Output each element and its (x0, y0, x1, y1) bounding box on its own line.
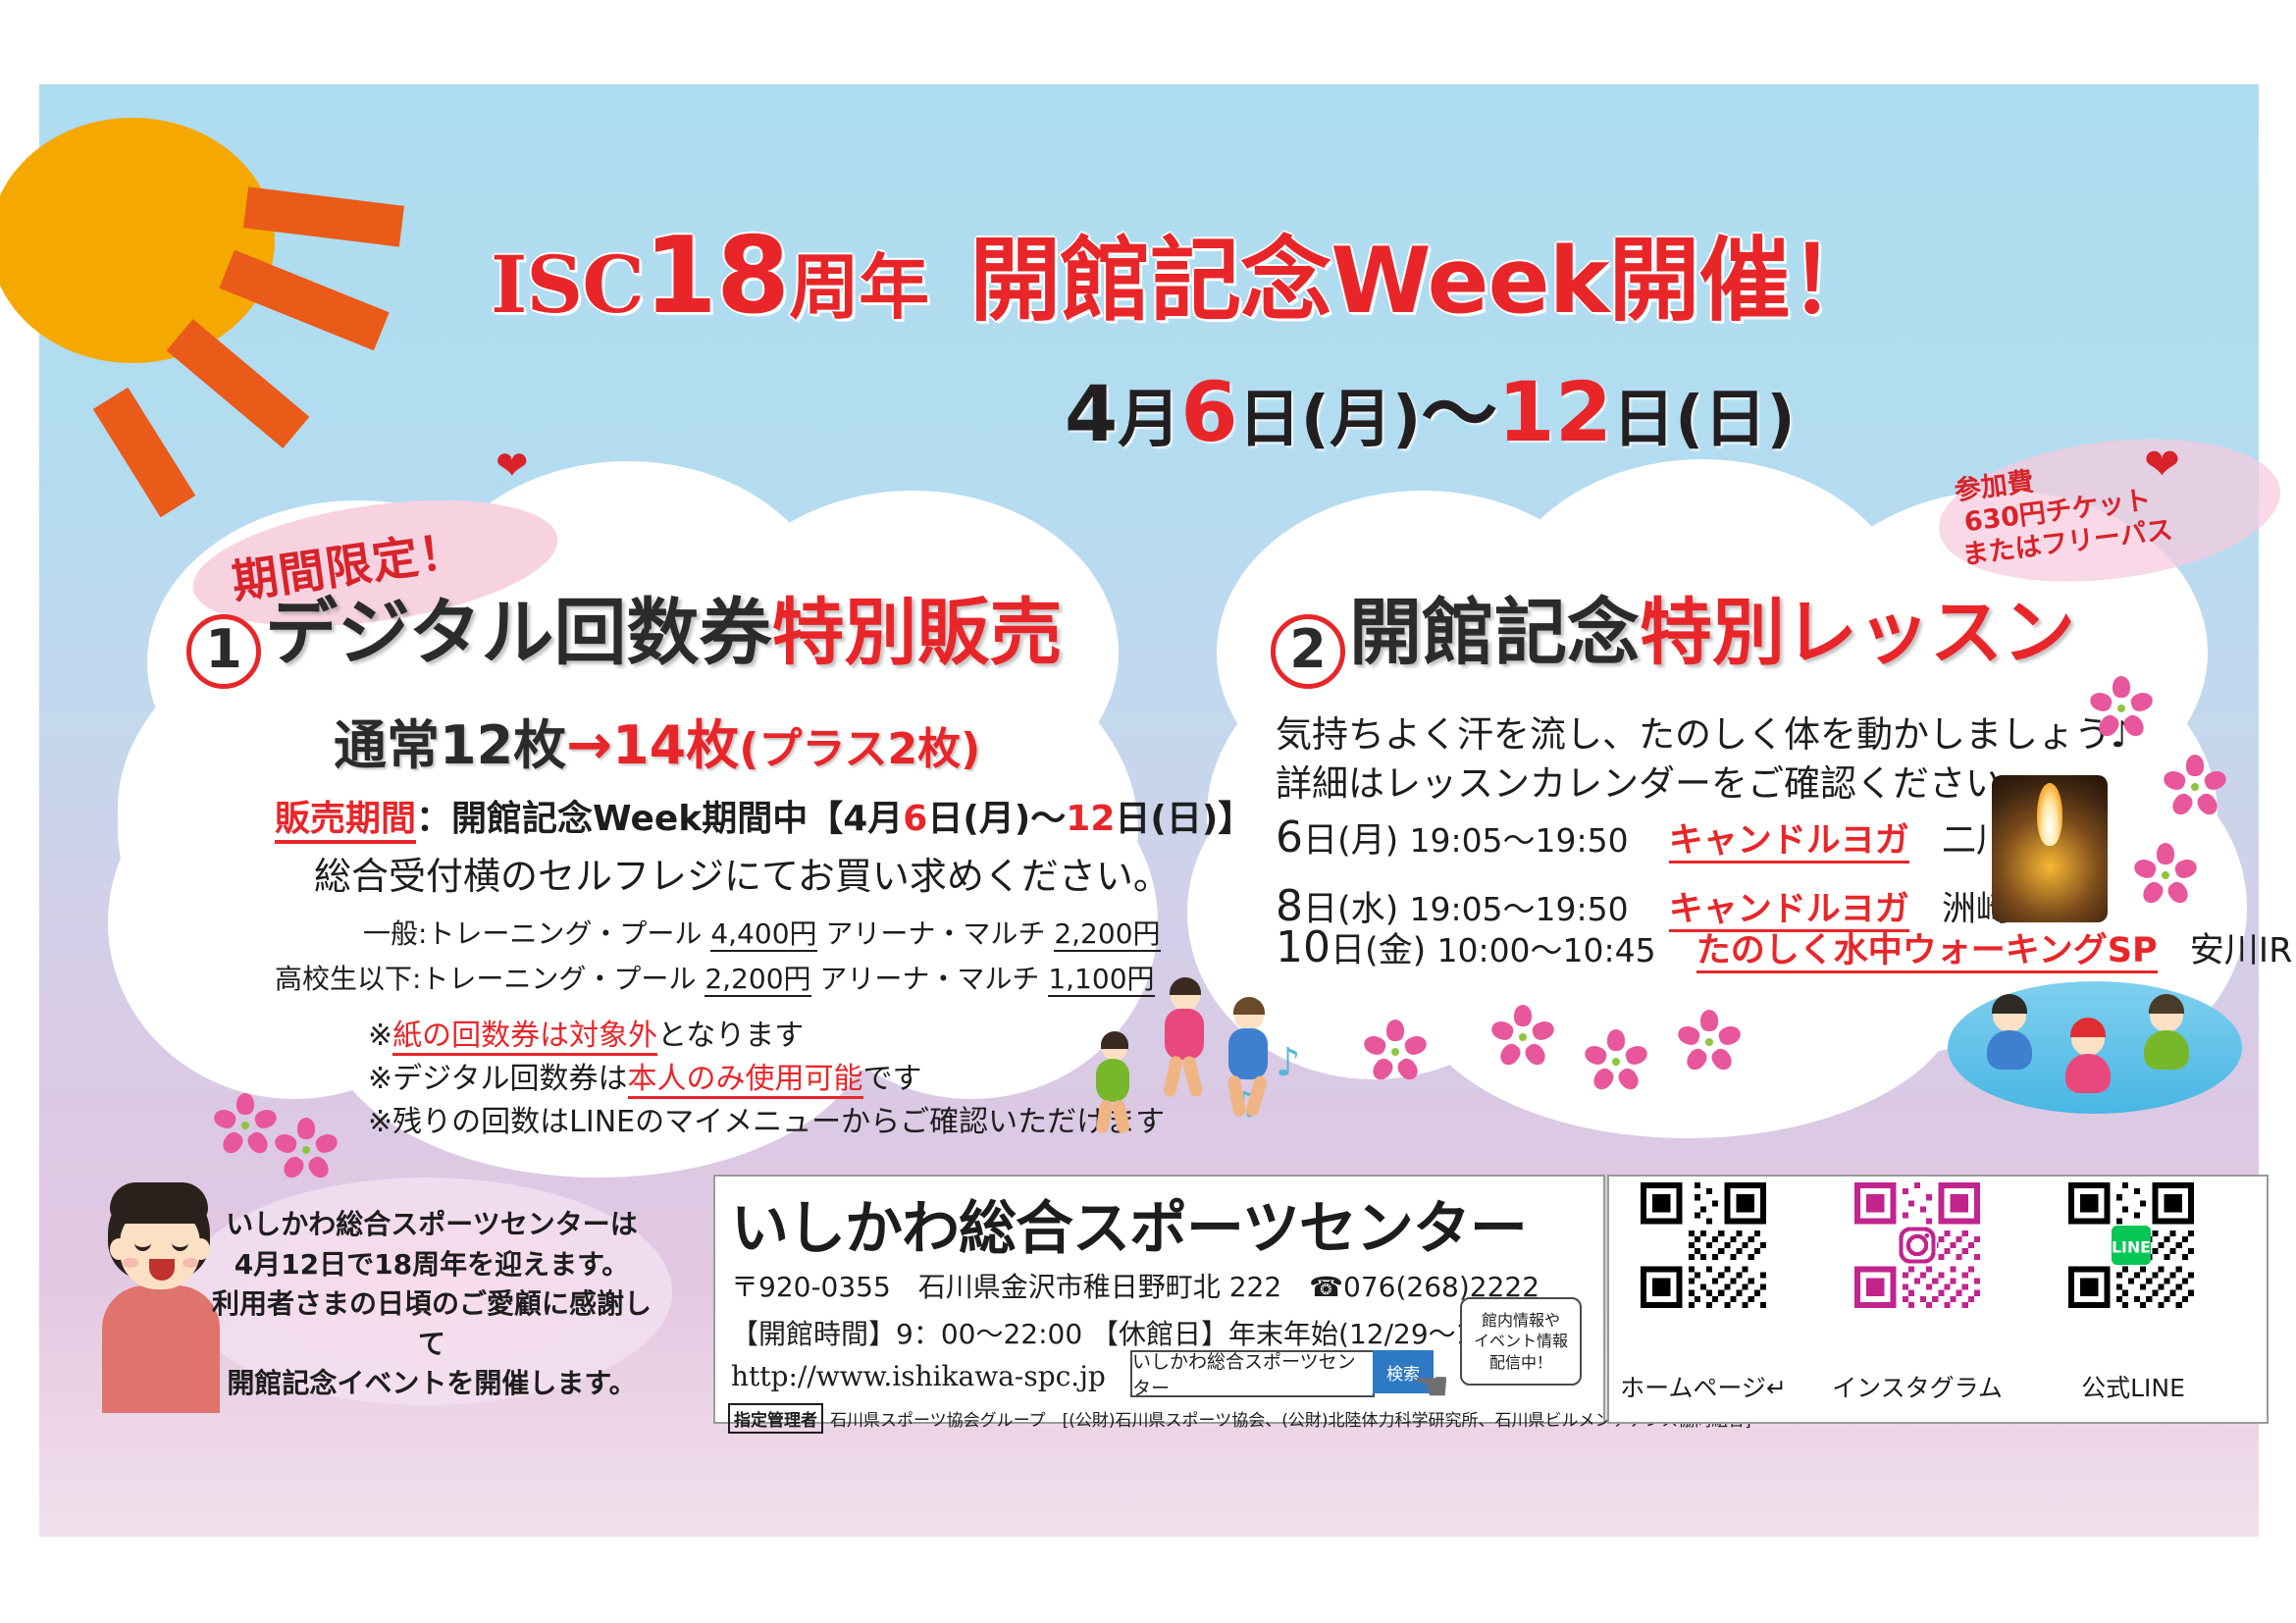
facility-address: 〒920-0355 石川県金沢市稚日野町北 222 ☎076(268)2222 (731, 1266, 1539, 1305)
sakura-flower-icon (2144, 854, 2187, 897)
sales-period-colon: ： (416, 799, 451, 839)
note-mark: ※ (368, 1019, 392, 1053)
dateline-end-label: 日(日) (1612, 384, 1796, 456)
qr-homepage[interactable] (1641, 1182, 1766, 1308)
candle-flame-icon (2037, 783, 2062, 846)
dateline-month: 4 (1065, 371, 1118, 459)
arrow-right-icon: → (566, 713, 612, 777)
section2-lead-line: 詳細はレッスンカレンダーをご確認ください。 (1276, 754, 2038, 807)
heart-icon: ❤ (2144, 444, 2180, 487)
sales-location-line: 総合受付横のセルフレジにてお買い求めください。 (314, 846, 1171, 900)
section2-title-dark: 開館記念 (1349, 591, 1640, 675)
svg-text:LINE: LINE (2112, 1237, 2151, 1256)
ticket-plus-note: (プラス2枚) (739, 724, 980, 774)
sakura-flower-icon (2100, 687, 2143, 730)
sales-period-red-a: 6 (903, 799, 927, 839)
facility-url[interactable]: http://www.ishikawa-spc.jp (731, 1360, 1106, 1392)
sakura-flower-icon (224, 1104, 267, 1147)
note-line: ※紙の回数券は対象外となります (368, 1011, 804, 1054)
section1-heading: 1デジタル回数券特別販売 (186, 597, 1063, 689)
sales-period-red-b: 12 (1066, 799, 1115, 839)
character-message-line: いしかわ総合スポーツセンターは (201, 1205, 662, 1245)
price-row-value1: 4,400円 (710, 917, 816, 952)
dateline-month-kanji: 月 (1118, 384, 1180, 456)
section1-number: 1 (186, 614, 261, 689)
dateline-tilde: ～ (1421, 371, 1497, 459)
ticket-new-count: 14枚 (612, 714, 739, 776)
note-red: 紙の回数券は対象外 (392, 1019, 657, 1056)
price-row-value1: 2,200円 (704, 963, 810, 997)
sun-icon (0, 118, 275, 363)
lesson-instructor: 安川IR (2190, 931, 2293, 970)
lesson-name: たのしく水中ウォーキングSP (1696, 931, 2158, 973)
lesson-time: 10:00～10:45 (1436, 931, 1655, 969)
character-message-line: 利用者さまの日頃のご愛顧に感謝して (201, 1284, 662, 1364)
lesson-day-label: 日(月) (1303, 821, 1398, 861)
note-mark: ※デジタル回数券は (368, 1062, 628, 1096)
lesson-time: 19:05～19:50 (1409, 821, 1628, 860)
character-message: いしかわ総合スポーツセンターは 4月12日で18周年を迎えます。 利用者さまの日… (201, 1205, 662, 1404)
page-title: ISC18周年開館記念Week開催！ (491, 224, 2218, 330)
poster-root: ISC18周年開館記念Week開催！ 4月6日(月)～12日(日) 参加費 63… (0, 0, 2296, 1623)
qr-line-label: 公式LINE (2035, 1369, 2231, 1404)
price-row-label2: アリーナ・マルチ (825, 917, 1045, 950)
price-row-value2: 2,200円 (1054, 917, 1160, 952)
info-callout-bubble: 館内情報や イベント情報 配信中！ (1460, 1297, 1582, 1386)
character-message-line: 4月12日で18周年を迎えます。 (201, 1245, 662, 1285)
sales-period-tag: 販売期間 (275, 799, 416, 844)
character-cheek (183, 1258, 198, 1268)
sakura-flower-icon (1374, 1030, 1417, 1073)
note-rest: です (863, 1062, 922, 1096)
qr-homepage-label: ホームページ↵ (1605, 1369, 1801, 1404)
manager-line: 指定管理者 石川県スポーツ協会グループ [(公財)石川県スポーツ協会、(公財)北… (728, 1403, 1751, 1434)
facility-name: いしかわ総合スポーツセンター (731, 1181, 1527, 1265)
headline-years-number: 18 (644, 215, 789, 338)
character-cheek (123, 1258, 138, 1268)
price-row-label2: アリーナ・マルチ (819, 963, 1039, 995)
lesson-row: 10日(金) 10:00～10:45 たのしく水中ウォーキングSP 安川IR (1276, 922, 2292, 972)
sales-period-text-c: 日(日)】 (1115, 799, 1253, 839)
section2-heading: 2開館記念特別レッスン (1271, 597, 2075, 689)
sakura-flower-icon (1594, 1040, 1638, 1083)
price-row: 高校生以下:トレーニング・プール 2,200円 アリーナ・マルチ 1,100円 (275, 958, 1155, 997)
info-callout-line: 配信中！ (1489, 1352, 1552, 1374)
music-note-icon: ♪ (1276, 1040, 1301, 1085)
price-row-label: 一般:トレーニング・プール (363, 917, 702, 950)
note-rest: となります (657, 1019, 804, 1053)
price-row: 一般:トレーニング・プール 4,400円 アリーナ・マルチ 2,200円 (363, 913, 1161, 952)
lesson-day-label: 日(金) (1331, 931, 1426, 970)
sales-period-line: 販売期間：開館記念Week期間中【4月6日(月)～12日(日)】 (275, 790, 1253, 841)
qr-line[interactable]: LINE (2068, 1182, 2194, 1308)
search-input[interactable]: いしかわ総合スポーツセンター (1130, 1350, 1375, 1397)
dateline-end-day: 12 (1497, 364, 1612, 460)
info-callout-line: 館内情報や (1482, 1310, 1560, 1332)
headline-main: 開館記念Week (969, 228, 1608, 334)
ticket-normal-count: 通常12枚 (334, 714, 566, 776)
lesson-row: 6日(月) 19:05～19:50 キャンドルヨガ 二川IR (1276, 812, 2045, 863)
sakura-flower-icon (1688, 1021, 1731, 1064)
qr-code-icon (1641, 1182, 1766, 1308)
price-row-value2: 1,100円 (1048, 963, 1154, 997)
section1-title-red: 特別販売 (772, 591, 1063, 675)
note-red: 本人のみ使用可能 (628, 1062, 863, 1099)
headline-main-suffix: 開催！ (1608, 228, 1879, 334)
section2-lead-line: 気持ちよく汗を流し、たのしく体を動かしましょう♪ (1276, 705, 2134, 758)
facility-hours: 【開館時間】9：00～22:00 【休館日】年末年始(12/29～1/3) (731, 1313, 1511, 1352)
note-line: ※残りの回数はLINEのマイメニューからご確認いただけます (368, 1097, 1165, 1140)
sakura-flower-icon (1501, 1016, 1544, 1059)
lesson-day: 10 (1276, 922, 1331, 972)
sakura-flower-icon (2173, 765, 2217, 809)
heart-icon: ❤ (496, 446, 529, 486)
section2-number: 2 (1271, 614, 1345, 689)
section1-title-dark: デジタル回数券 (265, 591, 772, 675)
qr-instagram[interactable] (1854, 1182, 1980, 1308)
note-mark: ※残りの回数はLINEのマイメニューからご確認いただけます (368, 1105, 1165, 1139)
info-callout-line: イベント情報 (1474, 1331, 1568, 1352)
lesson-name: キャンドルヨガ (1669, 821, 1909, 864)
price-row-label: 高校生以下:トレーニング・プール (275, 963, 696, 995)
section2-title-red: 特別レッスン (1640, 591, 2075, 675)
event-dateline: 4月6日(月)～12日(日) (1065, 371, 1796, 453)
character-fringe (110, 1182, 208, 1224)
ticket-swap-line: 通常12枚→14枚(プラス2枚) (334, 702, 980, 779)
manager-tag: 指定管理者 (728, 1403, 823, 1434)
sales-period-text-b: 日(月)～ (927, 799, 1066, 839)
sakura-flower-icon (285, 1128, 328, 1172)
headline-isc: ISC (491, 238, 644, 331)
dateline-start-day: 6 (1180, 364, 1237, 460)
dateline-start-label: 日(月) (1238, 384, 1422, 456)
character-message-line: 開館記念イベントを開催します。 (201, 1364, 662, 1404)
note-line: ※デジタル回数券は本人のみ使用可能です (368, 1054, 922, 1097)
lesson-day: 6 (1276, 812, 1303, 863)
qr-code-icon: LINE (2068, 1182, 2194, 1308)
sales-period-text-a: 開館記念Week期間中【4月 (451, 799, 903, 839)
qr-code-icon (1854, 1182, 1980, 1308)
qr-instagram-label: インスタグラム (1819, 1369, 2015, 1404)
headline-years-suffix: 周年 (789, 246, 928, 329)
